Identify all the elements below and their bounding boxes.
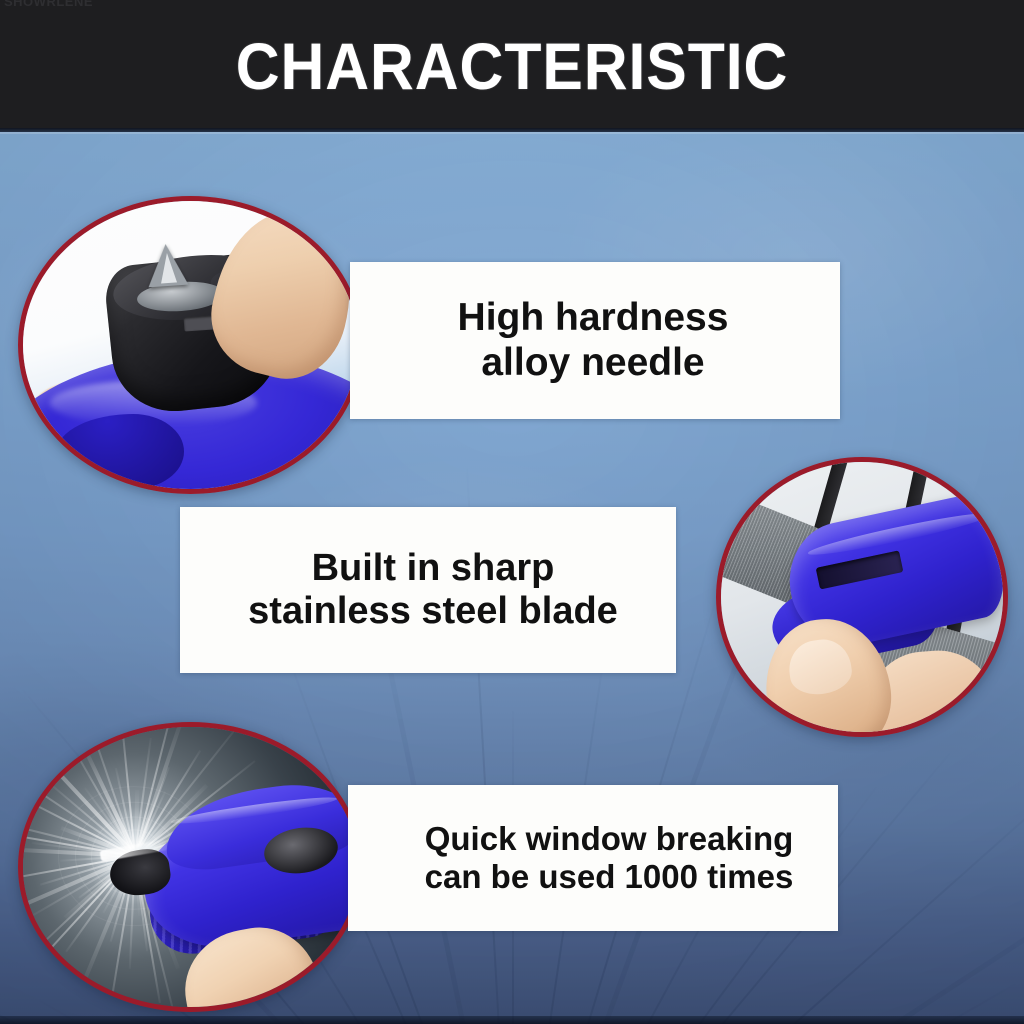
- alloy-needle-highlight: [159, 252, 177, 283]
- seatbelt-cutter-photo: [716, 457, 1008, 737]
- infographic-page: SHOWRLENE CHARACTERISTIC High hardness: [0, 0, 1024, 1024]
- feature-panel-2: Built in sharp stainless steel blade: [180, 507, 676, 673]
- feature-panel-1: High hardness alloy needle: [350, 262, 840, 419]
- feature-panel-3: Quick window breaking can be used 1000 t…: [348, 785, 838, 931]
- alloy-needle-photo: [18, 196, 363, 494]
- page-title: CHARACTERISTIC: [41, 28, 983, 104]
- window-breaking-scene: [23, 727, 358, 1007]
- alloy-needle-scene: [23, 201, 358, 489]
- seatbelt-cutter-scene: [721, 462, 1003, 732]
- feature-label-3: Quick window breaking can be used 1000 t…: [348, 820, 838, 895]
- feature-label-1: High hardness alloy needle: [350, 296, 840, 385]
- header-band: SHOWRLENE CHARACTERISTIC: [0, 0, 1024, 132]
- background-bottom-edge: [0, 1016, 1024, 1024]
- feature-label-2: Built in sharp stainless steel blade: [180, 547, 676, 634]
- watermark-text: SHOWRLENE: [4, 0, 93, 9]
- window-breaking-photo: [18, 722, 363, 1012]
